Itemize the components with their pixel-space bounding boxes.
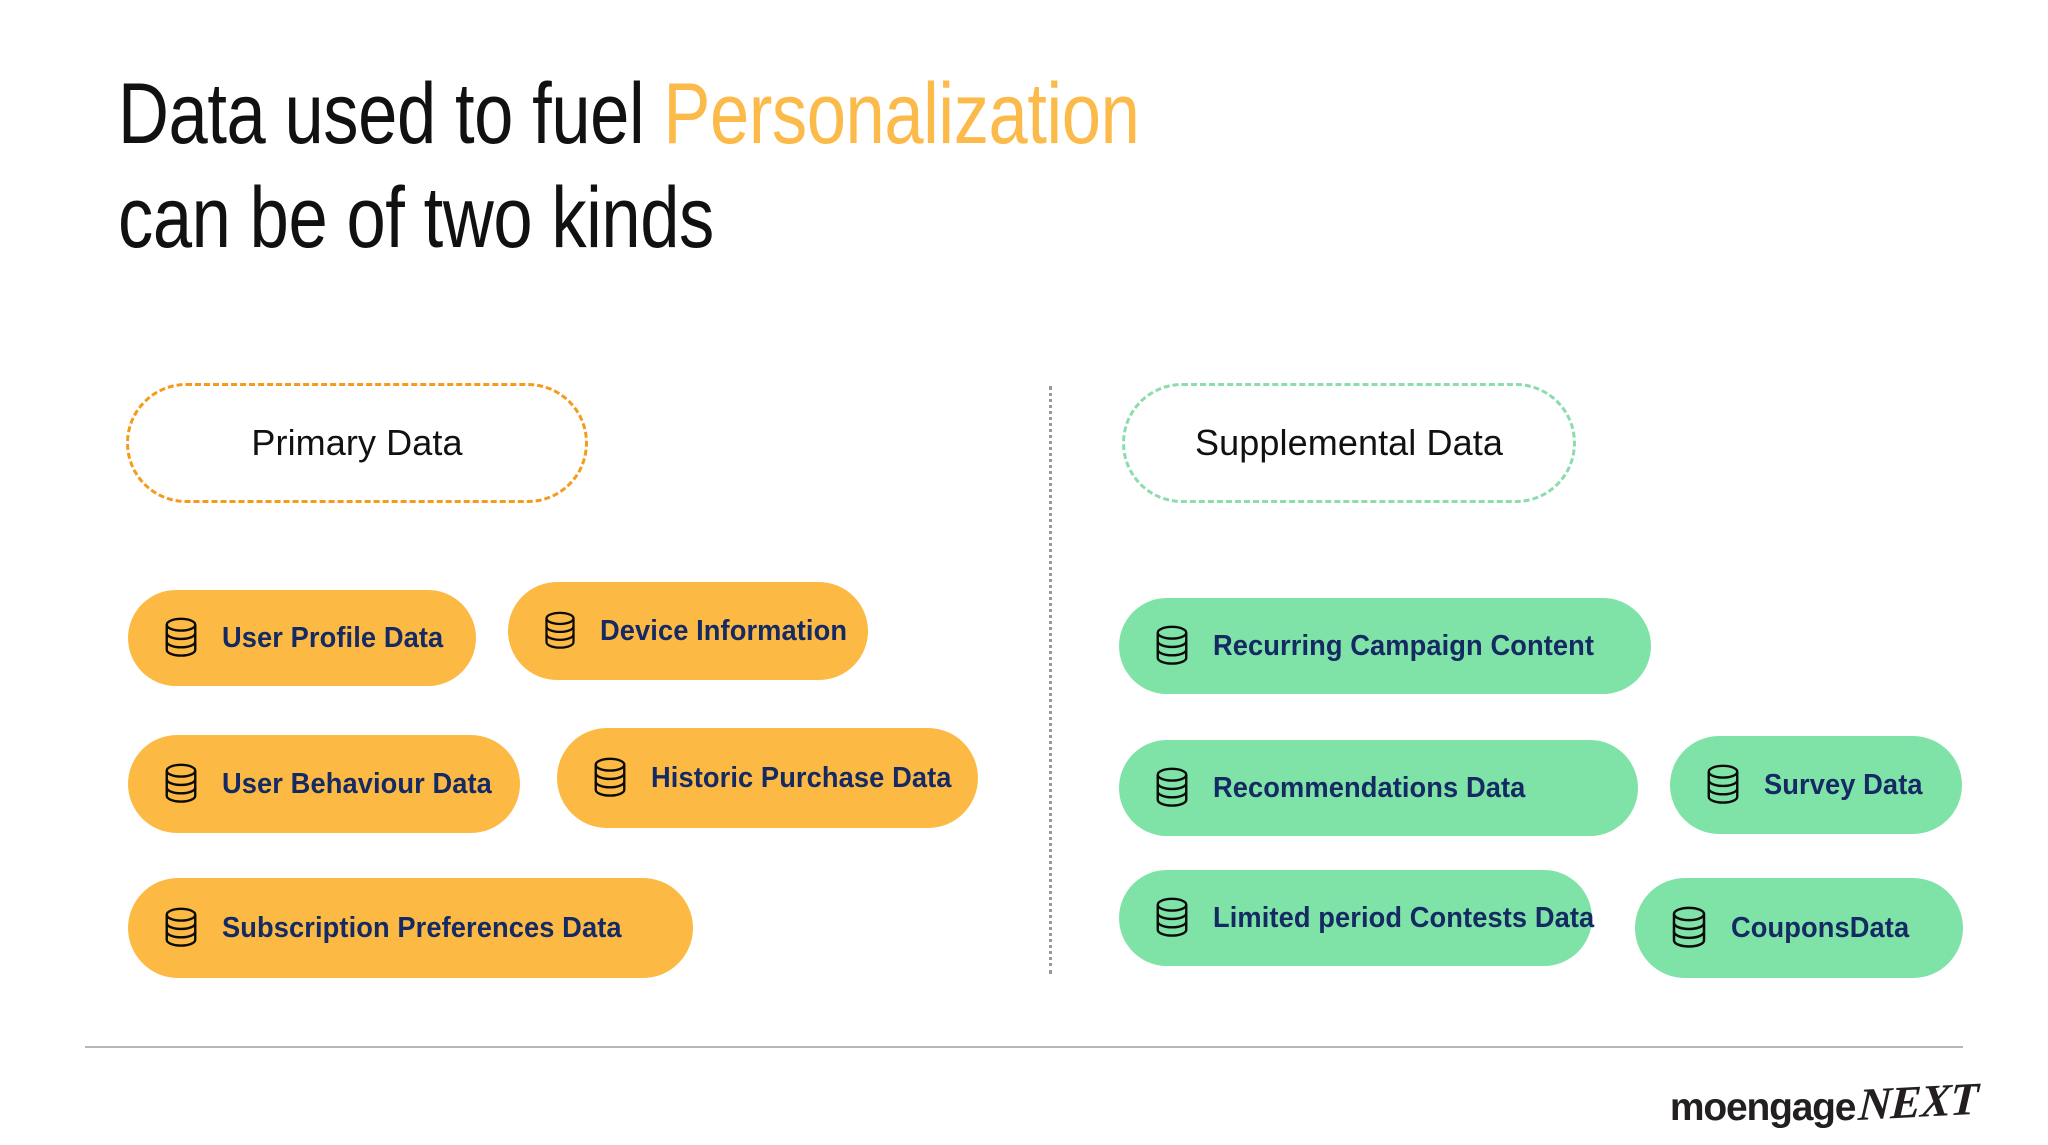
pill-label: Limited period Contests Data [1213,902,1594,935]
database-icon [591,757,629,799]
pill-recommendations-data[interactable]: Recommendations Data [1119,740,1638,836]
pill-subscription-preferences-data[interactable]: Subscription Preferences Data [128,878,693,978]
pill-label: Survey Data [1764,769,1923,802]
pill-label: User Behaviour Data [222,768,492,801]
database-icon [1153,625,1191,667]
pill-survey-data[interactable]: Survey Data [1670,736,1962,834]
database-icon [162,763,200,805]
pill-label: Device Information [600,615,847,648]
pill-label: CouponsData [1731,912,1909,945]
database-icon [1153,897,1191,939]
pill-label: Recommendations Data [1213,772,1525,805]
pill-limited-period-contests-data[interactable]: Limited period Contests Data [1119,870,1592,966]
pill-recurring-campaign-content[interactable]: Recurring Campaign Content [1119,598,1651,694]
moengage-next-logo: moengage NEXT [1670,1078,1976,1132]
database-icon [162,617,200,659]
pill-coupons-data[interactable]: CouponsData [1635,878,1963,978]
pill-label: Recurring Campaign Content [1213,630,1594,663]
pill-label: Historic Purchase Data [651,762,952,795]
primary-data-heading-pill: Primary Data [126,383,588,503]
pill-label: Subscription Preferences Data [222,912,622,945]
supplemental-data-heading-pill: Supplemental Data [1122,383,1576,503]
database-icon [162,907,200,949]
footer-divider [85,1046,1963,1048]
database-icon [1153,767,1191,809]
logo-next-wordmark: NEXT [1857,1072,1979,1131]
pill-user-behaviour-data[interactable]: User Behaviour Data [128,735,520,833]
database-icon [1669,906,1709,950]
title-line1-plain: Data used to fuel [118,66,663,162]
pill-device-information[interactable]: Device Information [508,582,868,680]
primary-data-heading-label: Primary Data [251,422,462,464]
database-icon [542,611,578,651]
column-divider [1049,386,1052,974]
page-title: Data used to fuel Personalizationcan be … [118,62,1348,270]
logo-moengage-wordmark: moengage [1670,1086,1855,1130]
pill-user-profile-data[interactable]: User Profile Data [128,590,476,686]
title-line2: can be of two kinds [118,170,714,266]
title-line1-accent: Personalization [663,66,1139,162]
slide-canvas: Data used to fuel Personalizationcan be … [0,0,2048,1145]
supplemental-data-heading-label: Supplemental Data [1195,422,1503,464]
database-icon [1704,764,1742,806]
pill-historic-purchase-data[interactable]: Historic Purchase Data [557,728,978,828]
pill-label: User Profile Data [222,622,443,655]
